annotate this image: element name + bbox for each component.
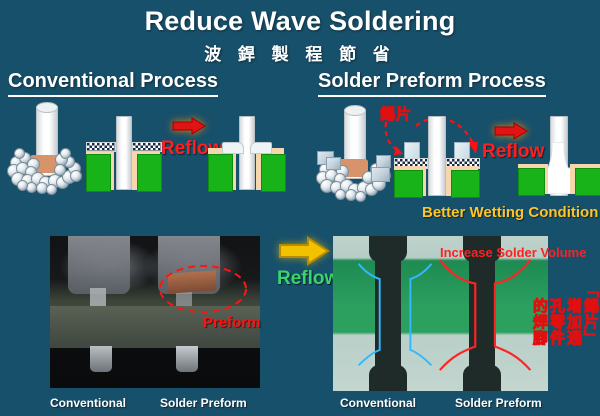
photo-conventional-vs-preform-side bbox=[50, 236, 260, 388]
photo-right-caption-conventional: Conventional bbox=[340, 396, 416, 410]
slide-canvas: Reduce Wave Soldering 波 銲 製 程 節 省 Conven… bbox=[0, 0, 600, 416]
chinese-note-col-0: 「錫片」 bbox=[582, 282, 598, 346]
right-arrow-icon-conventional bbox=[172, 117, 206, 135]
chinese-note-col-3: 的焊腳 bbox=[531, 298, 547, 346]
photo-right-caption-preform: Solder Preform bbox=[455, 396, 542, 410]
reflow-label-middle: Reflow bbox=[277, 268, 339, 290]
right-arrow-icon-middle bbox=[278, 236, 330, 266]
increase-solder-volume-label: Increase Solder Volume bbox=[440, 245, 586, 260]
preform-photo-label: Preform bbox=[203, 314, 261, 331]
section-heading-solder-preform: Solder Preform Process bbox=[318, 70, 546, 97]
pcb-after-reflow-preform bbox=[518, 116, 600, 198]
pcb-before-reflow-preform bbox=[394, 112, 482, 198]
pcb-after-reflow-conventional bbox=[208, 112, 290, 192]
section-heading-conventional: Conventional Process bbox=[8, 70, 218, 97]
pcb-before-reflow-conventional bbox=[86, 112, 166, 192]
solder-ball-cluster-conventional bbox=[6, 100, 91, 195]
better-wetting-label: Better Wetting Condition bbox=[422, 204, 598, 221]
chinese-note-col-1: 增加通 bbox=[565, 298, 581, 346]
page-title: Reduce Wave Soldering bbox=[0, 6, 600, 37]
preform-highlight-ellipse-icon bbox=[158, 264, 248, 314]
chinese-note-block: 「錫片」 增加通 孔零件 的焊腳 bbox=[530, 282, 598, 387]
page-subtitle: 波 銲 製 程 節 省 bbox=[0, 40, 600, 65]
chinese-note-col-2: 孔零件 bbox=[548, 298, 564, 346]
photo-left-caption-preform: Solder Preform bbox=[160, 396, 247, 410]
photo-left-caption-conventional: Conventional bbox=[50, 396, 126, 410]
diagram-conventional: Reflow bbox=[0, 100, 300, 205]
